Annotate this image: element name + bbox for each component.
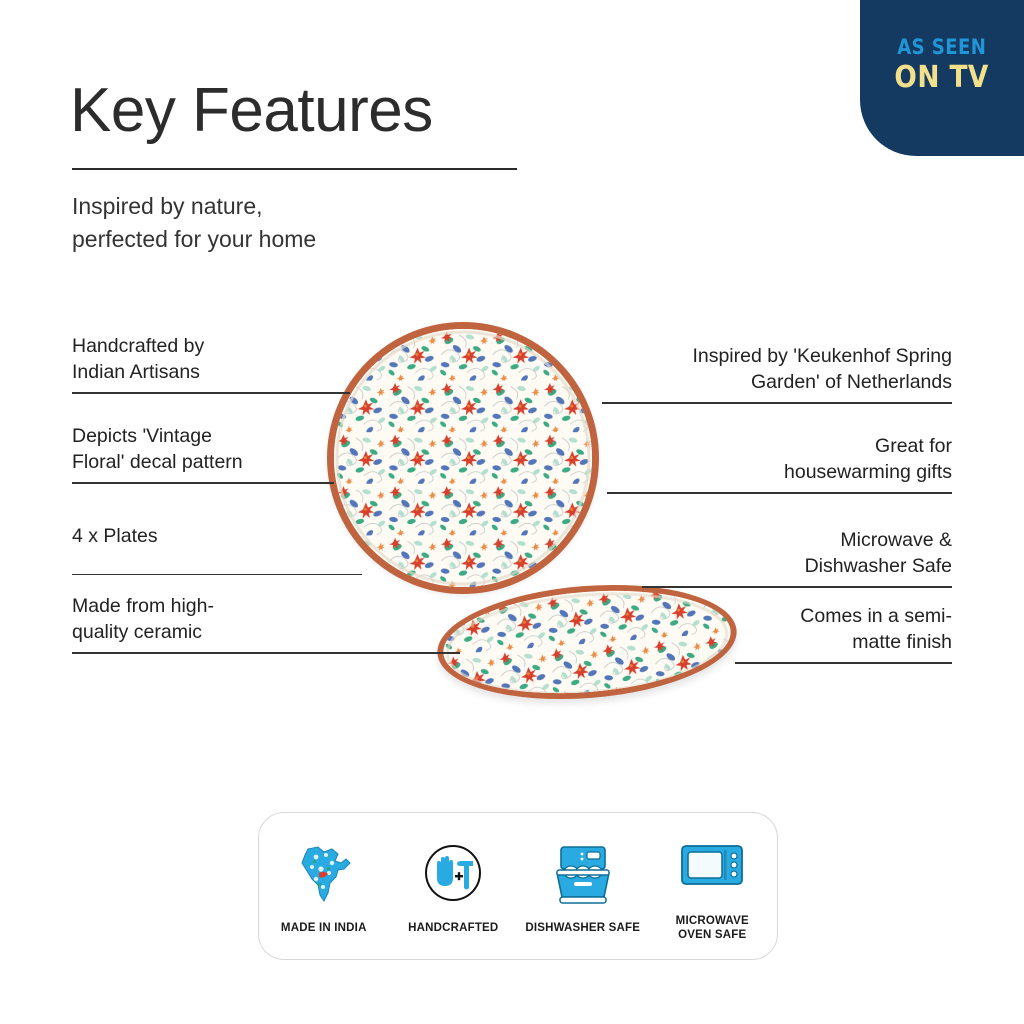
badge-handcrafted-caption: HANDCRAFTED [408,921,498,935]
feature-right-1-text: Inspired by 'Keukenhof Spring Garden' of… [602,344,952,395]
feature-left-1-line1: Handcrafted by [72,334,350,360]
feature-left-3-rule [72,574,362,576]
feature-right-1: Inspired by 'Keukenhof Spring Garden' of… [602,344,952,404]
feature-left-4-line1: Made from high- [72,594,460,620]
feature-left-4-text: Made from high- quality ceramic [72,594,460,645]
feature-left-2-rule [72,482,334,484]
hand-hammer-icon [417,837,489,913]
as-seen-label: AS SEEN [897,36,986,58]
badge-handcrafted: HANDCRAFTED [392,837,514,935]
feature-right-1-line1: Inspired by 'Keukenhof Spring [602,344,952,370]
feature-right-3-rule [642,586,952,588]
feature-right-4-text: Comes in a semi- matte finish [735,604,952,655]
feature-left-2: Depicts 'Vintage Floral' decal pattern [72,424,334,484]
feature-right-1-rule [602,402,952,404]
feature-right-3-line2: Dishwasher Safe [642,554,952,580]
feature-left-2-line2: Floral' decal pattern [72,450,334,476]
subtitle-line-2: perfected for your home [72,223,316,256]
india-map-icon [288,837,360,913]
page-title: Key Features [70,78,433,143]
feature-right-2-text: Great for housewarming gifts [607,434,952,485]
title-divider [72,168,517,170]
feature-right-3-line1: Microwave & [642,528,952,554]
feature-left-2-line1: Depicts 'Vintage [72,424,334,450]
floral-pattern-round [334,329,592,587]
certification-badges-strip: MADE IN INDIA H [258,812,778,960]
feature-left-1-rule [72,392,350,394]
feature-left-3-line1: 4 x Plates [72,524,362,550]
feature-left-1: Handcrafted by Indian Artisans [72,334,350,394]
badge-made-in-india-caption: MADE IN INDIA [281,921,367,935]
floral-pattern-tilted [440,581,735,708]
feature-left-3: 4 x Plates [72,524,362,575]
feature-left-2-text: Depicts 'Vintage Floral' decal pattern [72,424,334,475]
feature-right-4: Comes in a semi- matte finish [735,604,952,664]
subtitle-line-1: Inspired by nature, [72,190,316,223]
feature-right-3-text: Microwave & Dishwasher Safe [642,528,952,579]
as-seen-on-tv-badge: AS SEEN ON TV [860,0,1024,156]
dishwasher-icon [543,837,623,913]
feature-left-4-line2: quality ceramic [72,620,460,646]
product-plate-tilted [433,574,741,709]
badge-made-in-india: MADE IN INDIA [263,837,385,935]
feature-right-3: Microwave & Dishwasher Safe [642,528,952,588]
feature-left-1-line2: Indian Artisans [72,360,350,386]
product-plate-front [327,322,599,594]
badge-1-caption-line1: MADE IN INDIA [281,921,367,935]
badge-dishwasher-safe: DISHWASHER SAFE [522,837,644,935]
badge-3-caption-line1: DISHWASHER SAFE [525,921,640,935]
feature-right-4-rule [735,662,952,664]
feature-right-2-rule [607,492,952,494]
feature-left-3-text: 4 x Plates [72,524,362,550]
badge-4-caption-line2: OVEN SAFE [676,928,749,942]
badge-4-caption-line1: MICROWAVE [676,914,749,928]
badge-2-caption-line1: HANDCRAFTED [408,921,498,935]
badge-microwave-oven-safe: MICROWAVE OVEN SAFE [651,830,773,943]
badge-microwave-caption: MICROWAVE OVEN SAFE [676,914,749,943]
feature-right-4-line1: Comes in a semi- [735,604,952,630]
badge-dishwasher-caption: DISHWASHER SAFE [525,921,640,935]
key-features-infographic: AS SEEN ON TV Key Features Inspired by n… [0,0,1024,1024]
feature-right-2: Great for housewarming gifts [607,434,952,494]
feature-right-2-line1: Great for [607,434,952,460]
feature-right-2-line2: housewarming gifts [607,460,952,486]
feature-left-1-text: Handcrafted by Indian Artisans [72,334,350,385]
microwave-icon [672,830,752,906]
on-tv-label: ON TV [895,61,989,94]
feature-left-4-rule [72,652,460,654]
feature-left-4: Made from high- quality ceramic [72,594,460,654]
feature-right-4-line2: matte finish [735,630,952,656]
page-subtitle: Inspired by nature, perfected for your h… [72,190,316,257]
feature-right-1-line2: Garden' of Netherlands [602,370,952,396]
